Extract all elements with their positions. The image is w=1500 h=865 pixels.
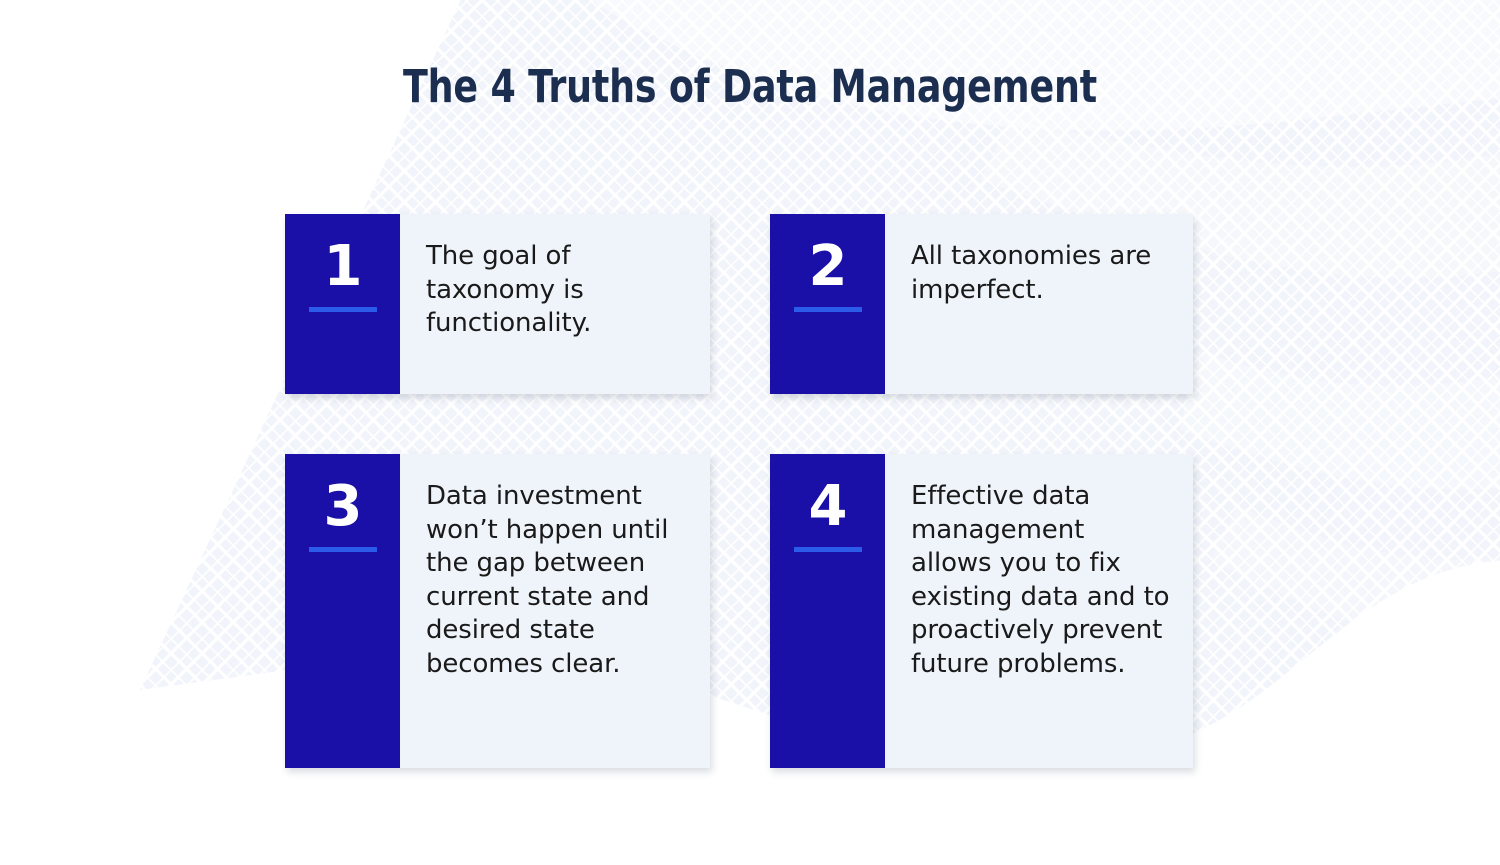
truth-card-4-number-block: 4 (770, 454, 885, 768)
truth-card-3-number: 3 (324, 480, 362, 535)
truth-card-4-body: Effective data management allows you to … (885, 454, 1193, 768)
truth-card-1: 1 The goal of taxonomy is functionality. (285, 214, 710, 394)
truth-card-3: 3 Data investment won’t happen until the… (285, 454, 710, 768)
truth-card-1-body: The goal of taxonomy is functionality. (400, 214, 710, 394)
swoosh-mid-right (1180, 350, 1500, 489)
slide-canvas: The 4 Truths of Data Management 1 The go… (0, 0, 1500, 865)
background-decoration (0, 0, 1500, 865)
truth-card-2: 2 All taxonomies are imperfect. (770, 214, 1193, 394)
truth-card-4-accent-underline (794, 547, 862, 552)
page-title: The 4 Truths of Data Management (75, 63, 1425, 112)
truth-card-4-number: 4 (809, 480, 847, 535)
truth-card-3-text: Data investment won’t happen until the g… (426, 480, 688, 681)
truth-card-2-body: All taxonomies are imperfect. (885, 214, 1193, 394)
truth-card-2-accent-underline (794, 307, 862, 312)
truth-card-1-number: 1 (324, 240, 362, 295)
truth-card-4: 4 Effective data management allows you t… (770, 454, 1193, 768)
truth-card-1-text: The goal of taxonomy is functionality. (426, 240, 688, 341)
truth-card-1-accent-underline (309, 307, 377, 312)
swoosh-lower-right (1210, 506, 1500, 650)
truth-card-2-number: 2 (809, 240, 847, 295)
truth-card-2-number-block: 2 (770, 214, 885, 394)
truth-card-2-text: All taxonomies are imperfect. (911, 240, 1171, 307)
lattice-pattern (0, 0, 1500, 865)
truth-card-3-body: Data investment won’t happen until the g… (400, 454, 710, 768)
truth-card-1-number-block: 1 (285, 214, 400, 394)
truth-card-3-number-block: 3 (285, 454, 400, 768)
truth-card-3-accent-underline (309, 547, 377, 552)
truth-card-4-text: Effective data management allows you to … (911, 480, 1171, 681)
